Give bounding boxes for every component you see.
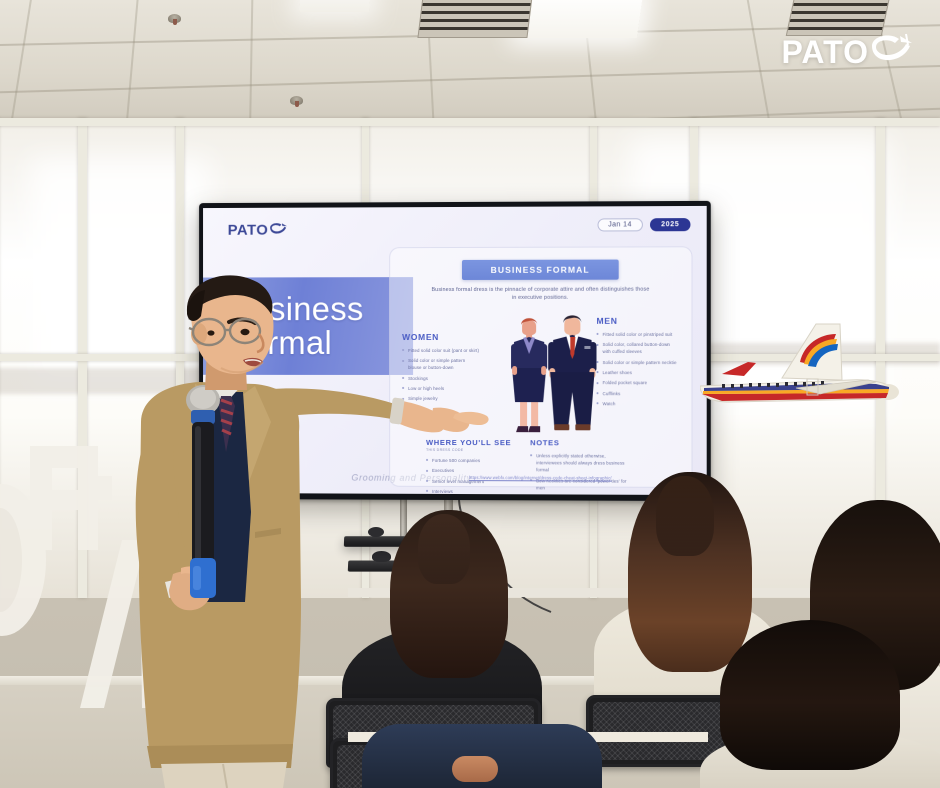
audience-member bbox=[700, 620, 940, 788]
model-airplane-display bbox=[700, 322, 940, 430]
list-item: Cufflinks bbox=[597, 390, 680, 397]
column-men-list: Fitted solid color or pinstriped suit So… bbox=[597, 331, 680, 408]
conference-room-scene: PATO bbox=[0, 0, 940, 788]
air-vent bbox=[786, 0, 891, 36]
list-item: Watch bbox=[597, 400, 680, 407]
column-notes-heading: NOTES bbox=[530, 438, 627, 447]
ceiling-light-panel bbox=[517, 0, 643, 38]
badge-year: 2025 bbox=[650, 218, 690, 231]
man-figure bbox=[548, 315, 596, 430]
list-item: Leather shoes bbox=[597, 369, 680, 376]
ceiling-light-panel bbox=[299, 0, 371, 12]
slide-badges: Jan 14 2025 bbox=[597, 218, 690, 231]
airplane-swoosh-icon bbox=[269, 222, 288, 239]
fire-sprinkler bbox=[168, 14, 181, 23]
woman-figure bbox=[511, 318, 547, 432]
pato-logo: PATO bbox=[781, 32, 914, 72]
list-item: Fitted solid color or pinstriped suit bbox=[597, 331, 680, 338]
person-hair-highlight bbox=[656, 476, 714, 556]
list-item: Folded pocket square bbox=[597, 379, 680, 386]
air-vent bbox=[417, 0, 532, 38]
fire-sprinkler bbox=[290, 96, 303, 105]
presenter-speaking bbox=[95, 272, 495, 788]
column-men: MEN Fitted solid color or pinstriped sui… bbox=[597, 316, 680, 411]
pato-logo-text: PATO bbox=[781, 36, 869, 68]
illustration-figures bbox=[496, 310, 605, 437]
list-item: Solid color, collared button-down with c… bbox=[597, 341, 680, 355]
list-item: Solid color or simple pattern necktie bbox=[597, 359, 680, 366]
badge-date: Jan 14 bbox=[597, 218, 643, 231]
person-hair bbox=[720, 620, 900, 770]
airplane-swoosh-icon bbox=[870, 32, 914, 72]
slide-logo-text: PATO bbox=[228, 222, 269, 239]
slide-pato-logo: PATO bbox=[228, 222, 288, 239]
column-men-heading: MEN bbox=[597, 316, 680, 326]
